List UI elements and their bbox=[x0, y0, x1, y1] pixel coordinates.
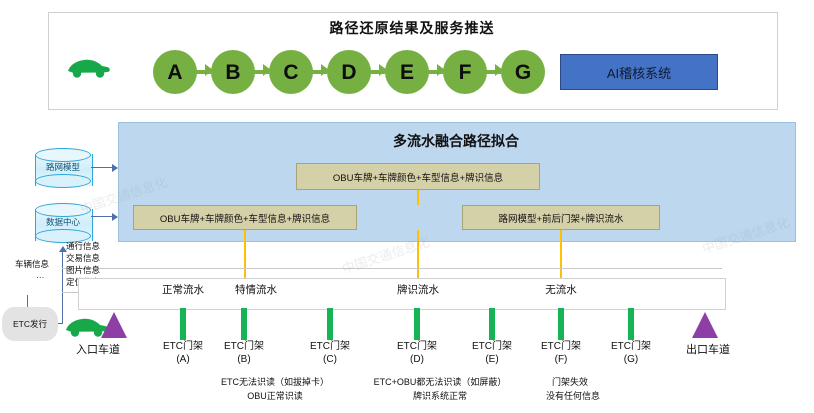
gantry-label-e: ETC门架 (E) bbox=[462, 341, 522, 366]
fusion-box-right[interactable]: 路网模型+前后门架+牌识流水 bbox=[462, 205, 660, 230]
connector-arrow-icon bbox=[112, 164, 118, 172]
vehicle-info-label: 车辆信息 bbox=[15, 258, 49, 270]
entry-lane-label: 入口车道 bbox=[58, 341, 138, 357]
gantry-bar-b[interactable] bbox=[241, 308, 247, 340]
route-node-b[interactable]: B bbox=[211, 50, 255, 94]
fusion-box-left[interactable]: OBU车牌+车牌颜色+车型信息+牌识信息 bbox=[133, 205, 357, 230]
data-item-image: 图片信息 bbox=[66, 264, 100, 276]
exit-lane-label: 出口车道 bbox=[668, 341, 748, 357]
gantry-name: ETC门架 bbox=[611, 341, 651, 352]
info-tap-line bbox=[62, 268, 722, 269]
top-panel-title: 路径还原结果及服务推送 bbox=[48, 18, 776, 38]
gantry-code: (E) bbox=[485, 354, 498, 365]
vehicle-info-ellipsis: … bbox=[36, 270, 45, 280]
gantry-label-c: ETC门架 (C) bbox=[300, 341, 360, 366]
gantry-bar-f[interactable] bbox=[558, 308, 564, 340]
gantry-bar-d[interactable] bbox=[414, 308, 420, 340]
route-node-g[interactable]: G bbox=[501, 50, 545, 94]
gantry-label-d: ETC门架 (D) bbox=[387, 341, 447, 366]
gantry-label-b: ETC门架 (B) bbox=[214, 341, 274, 366]
cylinder-label: 路网模型 bbox=[35, 161, 91, 173]
flow-label-plate: 牌识流水 bbox=[378, 282, 458, 297]
route-node-a[interactable]: A bbox=[153, 50, 197, 94]
gantry-name: ETC门架 bbox=[224, 341, 264, 352]
gantry-code: (F) bbox=[555, 354, 568, 365]
blue-panel-title: 多流水融合路径拟合 bbox=[118, 131, 794, 151]
gantry-bar-g[interactable] bbox=[628, 308, 634, 340]
gantry-bar-c[interactable] bbox=[327, 308, 333, 340]
route-node-c[interactable]: C bbox=[269, 50, 313, 94]
flow-label-special: 特情流水 bbox=[216, 282, 296, 297]
gantry-label-g: ETC门架 (G) bbox=[601, 341, 661, 366]
exit-lane-marker-icon bbox=[692, 312, 718, 338]
gantry-name: ETC门架 bbox=[541, 341, 581, 352]
gantry-note-1-line2: OBU正常识读 bbox=[205, 389, 345, 402]
road-network-model-cylinder[interactable]: 路网模型 bbox=[35, 148, 91, 192]
gantry-name: ETC门架 bbox=[472, 341, 512, 352]
connector-arrow-icon bbox=[112, 213, 118, 221]
gantry-note-1-line1: ETC无法识读（如拔掉卡） bbox=[190, 375, 360, 388]
gantry-code: (B) bbox=[237, 354, 250, 365]
gantry-note-3-line1: 门架失效 bbox=[515, 375, 625, 388]
entry-lane-marker-icon bbox=[101, 312, 127, 338]
gantry-code: (D) bbox=[410, 354, 424, 365]
cylinder-top bbox=[35, 203, 91, 217]
gantry-code: (G) bbox=[624, 354, 638, 365]
gantry-note-2-line1: ETC+OBU都无法识读（如屏蔽） bbox=[340, 375, 540, 388]
info-tap-line bbox=[62, 292, 78, 293]
etc-issuance-node[interactable]: ETC发行 bbox=[2, 307, 58, 341]
fusion-box-center[interactable]: OBU车牌+车牌颜色+车型信息+牌识信息 bbox=[296, 163, 540, 190]
car-icon bbox=[64, 54, 112, 80]
flow-label-normal: 正常流水 bbox=[143, 282, 223, 297]
gantry-bar-a[interactable] bbox=[180, 308, 186, 340]
gantry-code: (A) bbox=[176, 354, 189, 365]
route-node-f[interactable]: F bbox=[443, 50, 487, 94]
gantry-name: ETC门架 bbox=[397, 341, 437, 352]
gantry-bar-e[interactable] bbox=[489, 308, 495, 340]
gantry-label-a: ETC门架 (A) bbox=[153, 341, 213, 366]
cylinder-label: 数据中心 bbox=[35, 216, 91, 228]
fusion-connector bbox=[417, 190, 419, 205]
route-node-e[interactable]: E bbox=[385, 50, 429, 94]
route-node-d[interactable]: D bbox=[327, 50, 371, 94]
gantry-name: ETC门架 bbox=[310, 341, 350, 352]
cylinder-bottom bbox=[35, 174, 91, 188]
data-item-transaction: 交易信息 bbox=[66, 252, 100, 264]
gantry-code: (C) bbox=[323, 354, 337, 365]
flow-label-none: 无流水 bbox=[521, 282, 601, 297]
gantry-label-f: ETC门架 (F) bbox=[531, 341, 591, 366]
cylinder-top bbox=[35, 148, 91, 162]
gantry-name: ETC门架 bbox=[163, 341, 203, 352]
gantry-note-3-line2: 没有任何信息 bbox=[508, 389, 638, 402]
gantry-note-2-line2: 牌识系统正常 bbox=[370, 389, 510, 402]
ai-audit-system-box[interactable]: AI稽核系统 bbox=[560, 54, 718, 90]
data-item-passage: 通行信息 bbox=[66, 240, 100, 252]
